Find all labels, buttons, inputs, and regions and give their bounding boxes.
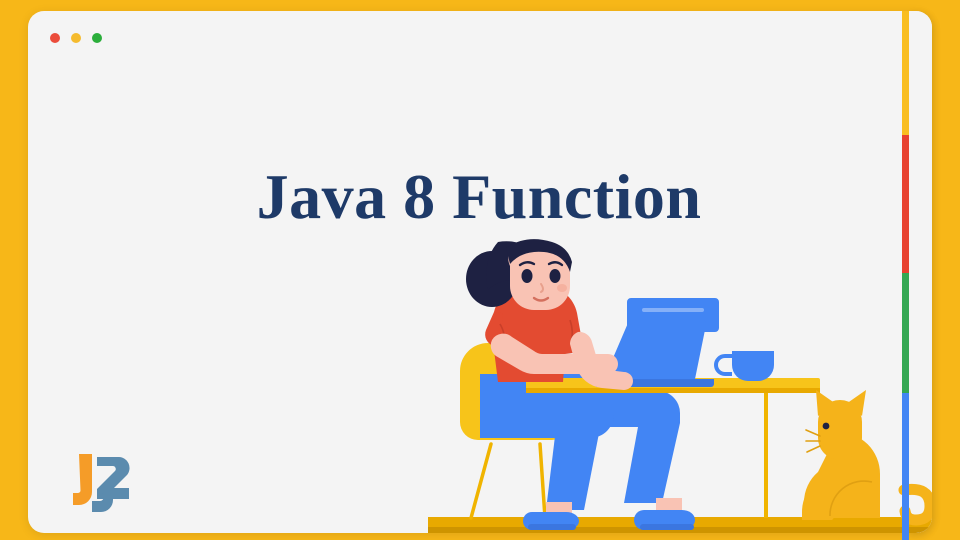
logo-superscript-text: 2: [64, 445, 73, 449]
eye-right: [550, 269, 561, 283]
chair-legs: [471, 444, 545, 518]
slide-canvas: Java 8 Function J 2: [0, 0, 960, 540]
color-rail: [902, 11, 909, 540]
cat-eye: [823, 423, 830, 430]
desk-leg: [764, 391, 768, 518]
maximize-icon[interactable]: [92, 33, 102, 43]
cat-whiskers: [806, 430, 820, 452]
hero-illustration: [428, 236, 932, 533]
page-title: Java 8 Function: [28, 163, 930, 230]
cat: [802, 390, 930, 520]
browser-card: Java 8 Function J 2: [28, 11, 932, 533]
window-controls: [50, 33, 102, 43]
brand-logo: J 2: [64, 445, 136, 513]
eye-left: [522, 269, 533, 283]
minimize-icon[interactable]: [71, 33, 81, 43]
coffee-cup: [716, 351, 774, 381]
rail-segment-green: [902, 273, 909, 393]
slipper-back: [523, 502, 579, 530]
face: [506, 239, 572, 310]
pants-back-leg: [546, 428, 600, 510]
rail-segment-yellow: [902, 11, 909, 135]
rail-segment-blue: [902, 393, 909, 540]
rail-segment-red: [902, 135, 909, 273]
close-icon[interactable]: [50, 33, 60, 43]
